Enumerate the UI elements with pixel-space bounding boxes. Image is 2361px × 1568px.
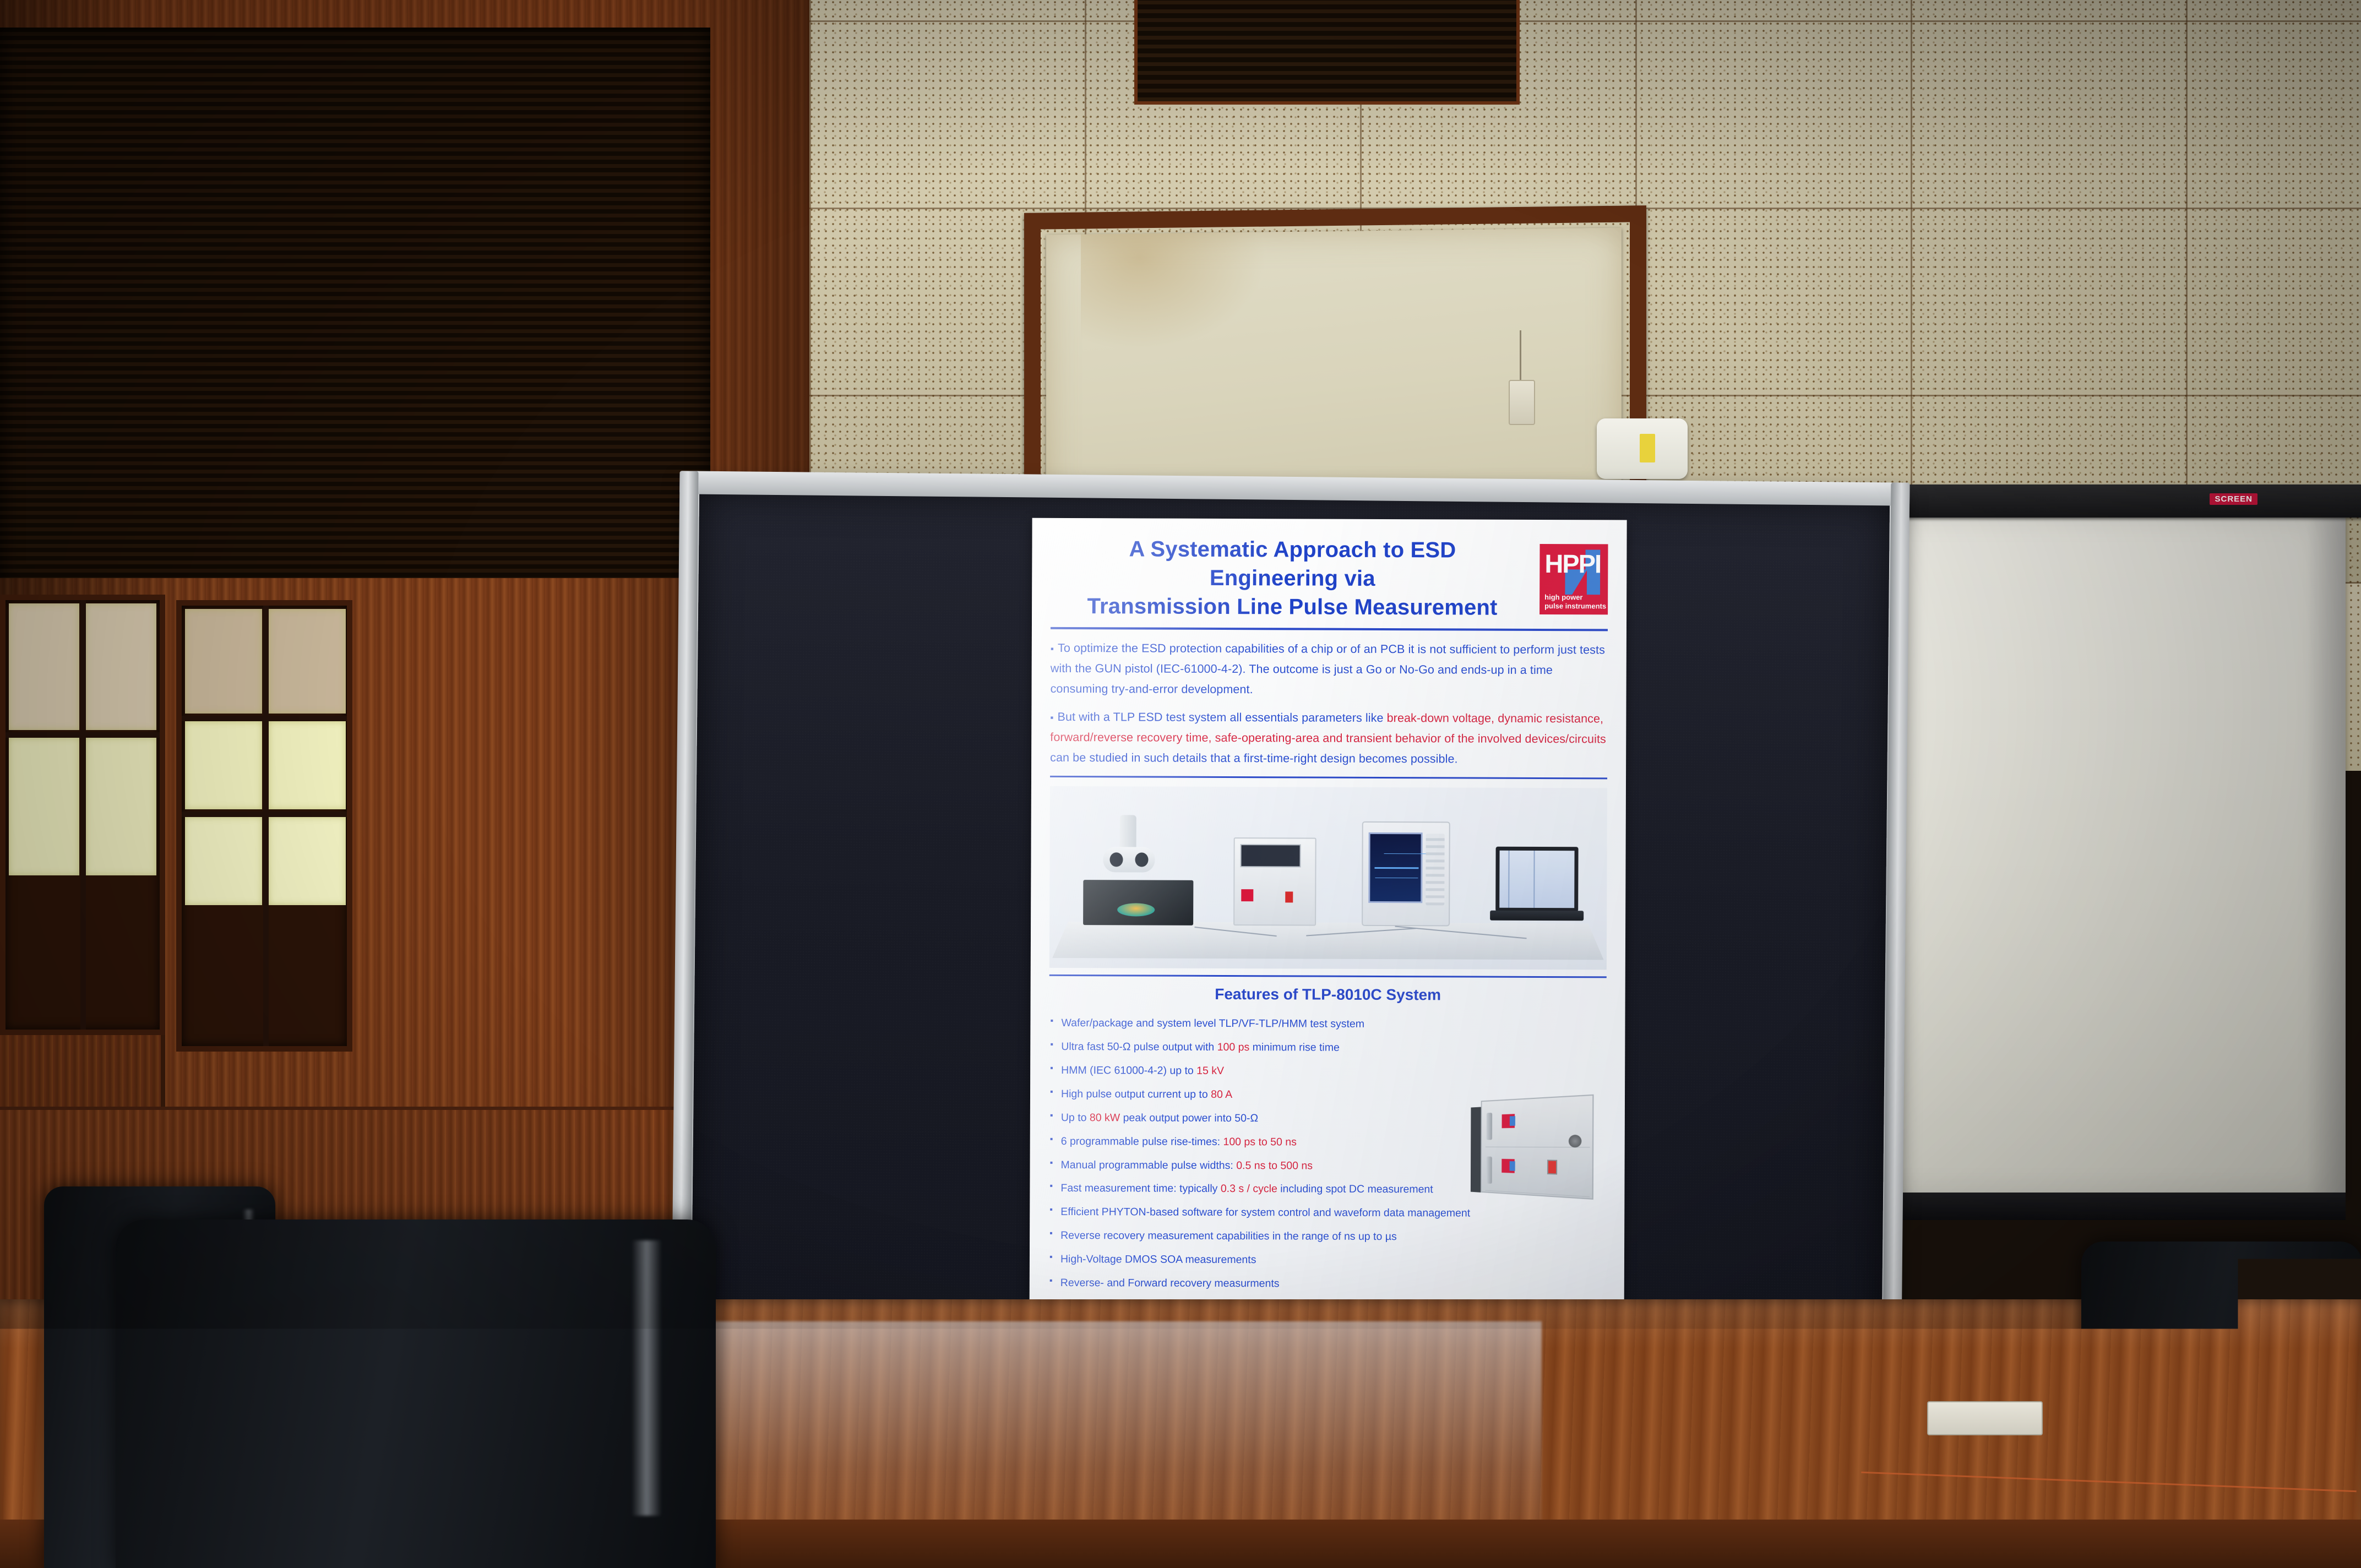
body-text: including spot DC measurement xyxy=(1277,1183,1433,1196)
conference-room-scene: SCREEN A Systematic Approach to ESD Engi… xyxy=(0,0,2361,1568)
pulse-generator-unit xyxy=(1233,837,1316,926)
body-text: Fast measurement time: typically xyxy=(1060,1182,1221,1195)
window-group xyxy=(0,595,308,1112)
large-vent-grille xyxy=(0,28,710,589)
feature-item: Reverse recovery measurement capabilitie… xyxy=(1048,1224,1606,1249)
screen-brand-label: SCREEN xyxy=(2210,493,2257,505)
poster-title-line-3: Transmission Line Pulse Measurement xyxy=(1051,592,1534,622)
body-text: Up to xyxy=(1061,1112,1090,1124)
highlighted-text: 100 ps to 50 ns xyxy=(1223,1136,1296,1148)
poster-title-line-2: Engineering via xyxy=(1051,563,1534,594)
bench-surface xyxy=(1052,922,1603,960)
projection-screen-surface xyxy=(1889,516,2346,1194)
body-text: peak output power into 50-Ω xyxy=(1120,1112,1258,1124)
highlighted-text: 0.3 s / cycle xyxy=(1221,1183,1277,1195)
tlp-8010c-rack-photo xyxy=(1459,1085,1597,1207)
window-left[interactable] xyxy=(0,595,165,1035)
highlighted-text: 15 kV xyxy=(1196,1065,1224,1077)
body-text: Reverse recovery measurement capabilitie… xyxy=(1060,1229,1397,1243)
body-text: To optimize the ESD protection capabilit… xyxy=(1051,641,1605,696)
chair-front-left[interactable] xyxy=(116,1219,716,1568)
projection-screen[interactable]: SCREEN xyxy=(1872,484,2361,1217)
panel-cable xyxy=(1520,330,1521,383)
feature-item: HMM (IEC 61000-4-2) up to 15 kV xyxy=(1049,1059,1606,1084)
highlighted-text: 100 ps xyxy=(1217,1041,1250,1053)
divider-top xyxy=(1051,627,1608,631)
body-text: minimum rise time xyxy=(1249,1041,1340,1054)
chair-right[interactable] xyxy=(2081,1242,2361,1568)
hppi-tagline-line-1: high power xyxy=(1544,593,1606,602)
body-text: Efficient PHYTON-based software for syst… xyxy=(1060,1206,1470,1219)
intro-paragraph: ▪But with a TLP ESD test system all esse… xyxy=(1050,707,1607,770)
bullet-icon: ▪ xyxy=(1051,644,1054,654)
poster-intro-section: ▪To optimize the ESD protection capabili… xyxy=(1050,638,1608,770)
body-text: Ultra fast 50-Ω pulse output with xyxy=(1061,1041,1217,1053)
body-text: can be studied in such details that a fi… xyxy=(1050,751,1458,766)
junction-box-icon xyxy=(1597,418,1688,479)
body-text: Manual programmable pulse widths: xyxy=(1061,1159,1237,1172)
probe-station-microscope xyxy=(1083,815,1194,925)
bullet-icon: ▪ xyxy=(1050,712,1053,723)
feature-item: Reverse- and Forward recovery measurment… xyxy=(1048,1271,1606,1297)
screen-bottom-bar xyxy=(1889,1193,2346,1220)
body-text: 6 programmable pulse rise-times: xyxy=(1061,1135,1223,1148)
body-text: High-Voltage DMOS SOA measurements xyxy=(1060,1253,1256,1266)
ceiling-vent-grille xyxy=(1134,0,1520,105)
power-button-icon xyxy=(1547,1159,1557,1174)
body-text: HMM (IEC 61000-4-2) up to xyxy=(1061,1064,1196,1077)
poster-header: A Systematic Approach to ESD Engineering… xyxy=(1051,535,1608,623)
oscilloscope xyxy=(1362,821,1450,927)
highlighted-text: 0.5 ns to 500 ns xyxy=(1236,1159,1313,1172)
hppi-wordmark: HPPI xyxy=(1544,551,1601,576)
poster-title: A Systematic Approach to ESD Engineering… xyxy=(1051,535,1535,622)
hv-connector-icon xyxy=(1569,1135,1581,1147)
body-text: Reverse- and Forward recovery measurment… xyxy=(1060,1277,1280,1289)
lab-setup-photo xyxy=(1049,786,1607,970)
stained-wall-panel xyxy=(1046,228,1622,510)
feature-item: Wafer/package and system level TLP/VF-TL… xyxy=(1049,1011,1606,1037)
body-text: High pulse output current up to xyxy=(1061,1088,1211,1101)
hppi-logo: HPPI high power pulse instruments xyxy=(1539,544,1608,614)
divider-features xyxy=(1049,974,1607,978)
poster-title-line-1: A Systematic Approach to ESD xyxy=(1051,535,1534,565)
rack-chassis xyxy=(1481,1095,1593,1200)
features-heading: Features of TLP-8010C System xyxy=(1049,985,1607,1005)
highlighted-text: 80 A xyxy=(1211,1088,1232,1101)
screen-top-housing: SCREEN xyxy=(1872,484,2361,518)
divider-mid xyxy=(1050,776,1607,780)
window-right[interactable] xyxy=(176,600,352,1052)
wall-socket[interactable] xyxy=(1509,380,1535,425)
feature-item: High-Voltage DMOS SOA measurements xyxy=(1048,1248,1606,1273)
hppi-tagline: high power pulse instruments xyxy=(1544,593,1606,610)
intro-paragraph: ▪To optimize the ESD protection capabili… xyxy=(1051,638,1608,701)
laptop-computer xyxy=(1495,847,1579,927)
floor-power-outlet[interactable] xyxy=(1927,1401,2043,1435)
highlighted-text: 80 kW xyxy=(1090,1112,1120,1124)
feature-item: Ultra fast 50-Ω pulse output with 100 ps… xyxy=(1049,1035,1606,1060)
hppi-tagline-line-2: pulse instruments xyxy=(1544,602,1606,611)
warning-label-icon xyxy=(1640,434,1655,462)
body-text: But with a TLP ESD test system all essen… xyxy=(1058,710,1387,725)
body-text: Wafer/package and system level TLP/VF-TL… xyxy=(1061,1017,1364,1030)
